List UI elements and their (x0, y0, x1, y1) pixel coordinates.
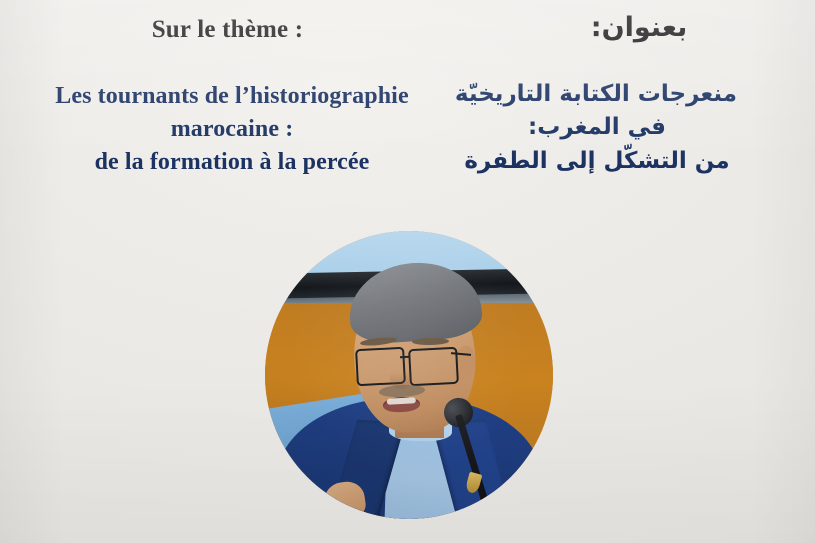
arabic-title-line-3: من التشكّل إلى الطفرة (457, 145, 737, 178)
speaker-portrait (265, 231, 553, 519)
portrait-eyebrow-right (412, 337, 450, 345)
french-title-line-3: de la formation à la percée (8, 146, 456, 179)
arabic-kicker-label: بعنوان: (489, 12, 789, 43)
french-title: Les tournants de l’historiographie maroc… (8, 80, 456, 179)
french-kicker-label: Sur le thème : (0, 16, 455, 44)
arabic-title-line-1: منعرجات الكتابة التاريخيّة (457, 78, 737, 111)
arabic-title: منعرجات الكتابة التاريخيّة في المغرب: من… (457, 78, 737, 178)
presentation-slide: Sur le thème : بعنوان: Les tournants de … (0, 0, 815, 543)
arabic-title-line-2: في المغرب: (457, 111, 737, 144)
french-title-line-2: marocaine : (8, 113, 456, 146)
french-title-line-1: Les tournants de l’historiographie (8, 80, 456, 113)
